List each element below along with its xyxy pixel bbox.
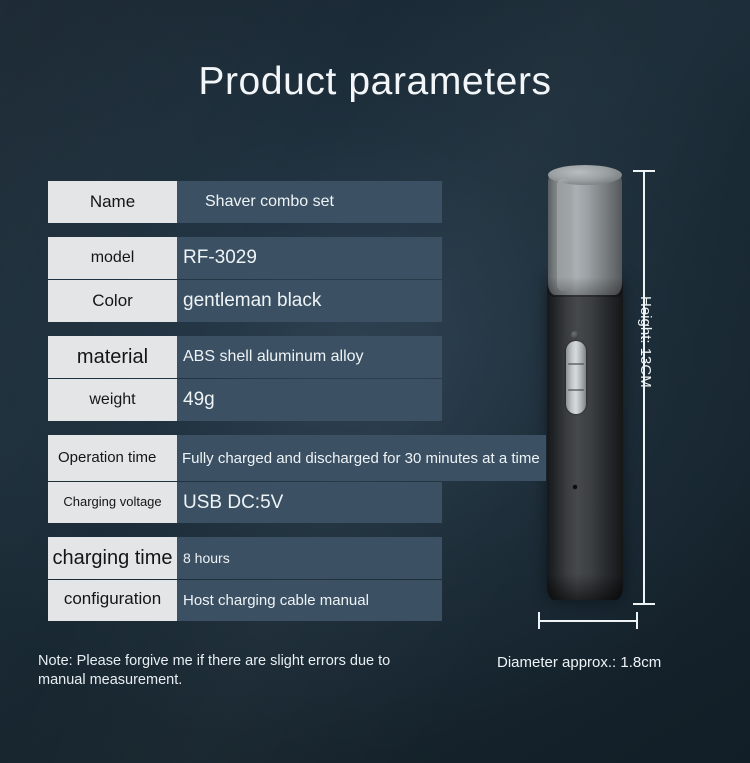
- diameter-dimension-label: Diameter approx.: 1.8cm: [497, 654, 661, 671]
- spec-value-text: Fully charged and discharged for 30 minu…: [182, 450, 540, 467]
- height-dimension-cap-bottom: [633, 603, 655, 605]
- table-row: configuration Host charging cable manual: [48, 580, 442, 621]
- measurement-note: Note: Please forgive me if there are sli…: [38, 652, 438, 690]
- product-image-shaver: [547, 165, 623, 600]
- diameter-dimension-line: [538, 620, 638, 622]
- spec-label-cell: configuration: [48, 580, 177, 621]
- spec-label-text: Operation time: [58, 450, 173, 467]
- spec-value-text: 8 hours: [183, 550, 436, 566]
- spec-value-cell: gentleman black: [177, 280, 442, 322]
- spec-group: Name Shaver combo set: [48, 181, 442, 223]
- spec-value-cell: 8 hours: [177, 537, 442, 579]
- spec-label-cell: model: [48, 237, 177, 279]
- table-row: model RF-3029: [48, 237, 442, 279]
- spec-label-text: charging time: [52, 547, 173, 569]
- spec-label-text: weight: [52, 391, 173, 409]
- spec-label-text: material: [52, 346, 173, 368]
- spec-value-cell: Shaver combo set: [177, 181, 442, 223]
- spec-value-text: 49g: [183, 389, 436, 411]
- table-row: Operation time Fully charged and dischar…: [48, 435, 442, 481]
- table-row: Color gentleman black: [48, 280, 442, 322]
- device-body: [547, 275, 623, 600]
- height-dimension-cap-top: [633, 170, 655, 172]
- spec-group: material ABS shell aluminum alloy weight…: [48, 336, 442, 421]
- spec-value-text: USB DC:5V: [183, 492, 436, 514]
- spec-value-text: RF-3029: [183, 247, 436, 269]
- device-button-dot: [571, 331, 579, 339]
- table-row: weight 49g: [48, 379, 442, 421]
- spec-value-text: ABS shell aluminum alloy: [183, 348, 436, 366]
- spec-label-cell: Name: [48, 181, 177, 223]
- slider-ridge: [568, 363, 584, 365]
- device-cap-shadow: [548, 277, 622, 297]
- slider-ridge: [568, 389, 584, 391]
- spec-label-text: Color: [52, 291, 173, 310]
- table-row: material ABS shell aluminum alloy: [48, 336, 442, 378]
- spec-label-text: configuration: [52, 589, 173, 610]
- spec-value-text: gentleman black: [183, 290, 438, 312]
- spec-label-text: Charging voltage: [52, 495, 173, 510]
- spec-label-cell: weight: [48, 379, 177, 421]
- spec-group: charging time 8 hours configuration Host…: [48, 537, 442, 621]
- spec-label-cell: Operation time: [48, 435, 177, 481]
- diameter-dimension-cap-right: [636, 612, 638, 629]
- diameter-dimension-cap-left: [538, 612, 540, 629]
- device-led-indicator: [573, 485, 577, 489]
- table-row: charging time 8 hours: [48, 537, 442, 579]
- table-row: Name Shaver combo set: [48, 181, 442, 223]
- spec-label-cell: material: [48, 336, 177, 378]
- spec-value-cell: USB DC:5V: [177, 482, 442, 523]
- spec-value-cell: ABS shell aluminum alloy: [177, 336, 442, 378]
- height-dimension-label: Height: 13CM: [637, 296, 654, 388]
- spec-label-cell: Charging voltage: [48, 482, 177, 523]
- table-row: Charging voltage USB DC:5V: [48, 482, 442, 523]
- product-parameters-infographic: Product parameters Name Shaver combo set…: [0, 0, 750, 763]
- spec-table: Name Shaver combo set model RF-3029 Colo…: [48, 181, 442, 621]
- spec-label-text: model: [52, 249, 173, 267]
- page-title: Product parameters: [0, 60, 750, 104]
- spec-label-cell: charging time: [48, 537, 177, 579]
- device-power-slider: [566, 341, 586, 414]
- spec-value-text: Host charging cable manual: [183, 592, 436, 609]
- spec-value-cell: RF-3029: [177, 237, 442, 279]
- spec-value-cell: Fully charged and discharged for 30 minu…: [177, 435, 546, 481]
- spec-group: model RF-3029 Color gentleman black: [48, 237, 442, 322]
- spec-label-cell: Color: [48, 280, 177, 322]
- spec-group: Operation time Fully charged and dischar…: [48, 435, 442, 523]
- spec-value-cell: Host charging cable manual: [177, 580, 442, 621]
- spec-label-text: Name: [52, 192, 173, 211]
- spec-value-cell: 49g: [177, 379, 442, 421]
- spec-value-text: Shaver combo set: [205, 193, 436, 211]
- device-cap-highlight: [557, 179, 570, 291]
